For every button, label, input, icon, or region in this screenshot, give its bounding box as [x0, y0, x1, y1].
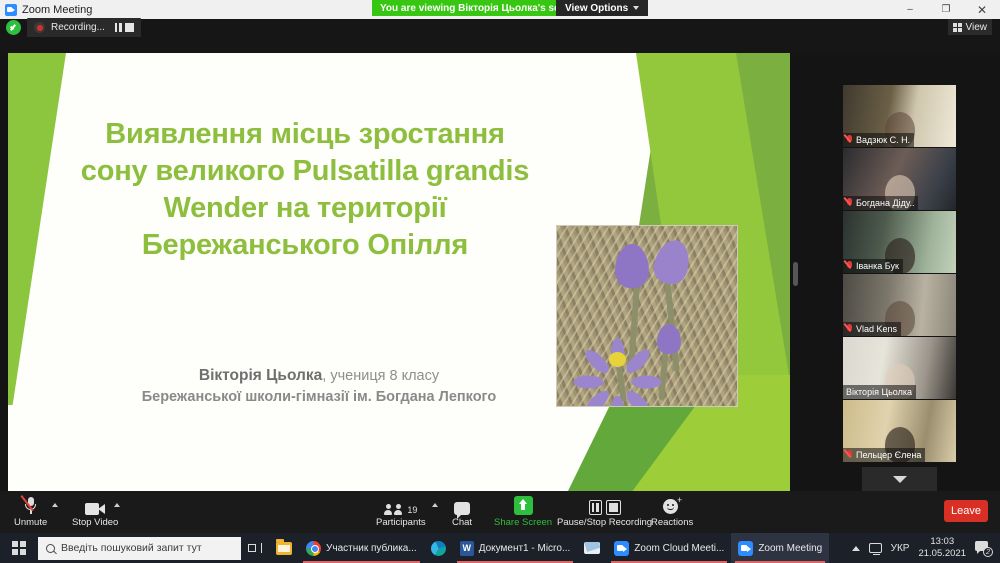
- task-view-icon: [248, 543, 262, 554]
- meeting-toolbar: Unmute Stop Video 19 Participants Chat S…: [0, 491, 1000, 533]
- file-explorer-icon: [276, 542, 292, 555]
- clock-time: 13:03: [918, 536, 966, 548]
- author-role: , учениця 8 класу: [322, 368, 439, 384]
- reactions-button[interactable]: + Reactions: [651, 495, 693, 528]
- zoom-meeting-window: Zoom Meeting – ❐ ✕ You are viewing Вікто…: [0, 0, 1000, 563]
- participant-tile-active-speaker[interactable]: Вікторія Цьолка: [843, 337, 956, 399]
- file-explorer-button[interactable]: [269, 533, 299, 563]
- windows-taskbar: Введіть пошуковий запит тут Участник пуб…: [0, 533, 1000, 563]
- taskbar-item-chrome[interactable]: Участник публика...: [299, 533, 424, 563]
- window-title: Zoom Meeting: [22, 4, 92, 16]
- shield-check-icon[interactable]: [6, 20, 21, 35]
- stop-icon[interactable]: [125, 23, 134, 32]
- view-button-label: View: [966, 22, 988, 33]
- microphone-muted-icon: [846, 198, 853, 208]
- word-icon: W: [460, 541, 474, 556]
- participant-tile[interactable]: Вадзюк С. Н.: [843, 85, 956, 147]
- notification-count: 2: [983, 547, 993, 557]
- share-scrollbar[interactable]: [793, 262, 798, 286]
- camera-icon: [85, 503, 105, 515]
- mail-icon: [584, 542, 600, 554]
- record-dot-icon: [34, 22, 45, 33]
- participant-name: Вадзюк С. Н.: [856, 135, 910, 145]
- participants-caret-icon[interactable]: [432, 503, 438, 507]
- people-icon: 19: [384, 504, 417, 515]
- taskbar-item-zoom-meeting[interactable]: Zoom Meeting: [731, 533, 829, 563]
- stop-video-button[interactable]: Stop Video: [72, 495, 118, 528]
- edge-icon: [431, 541, 446, 556]
- participant-name: Богдана Діду..: [856, 198, 914, 208]
- maximize-button[interactable]: ❐: [928, 0, 964, 19]
- taskbar-item-edge[interactable]: [424, 533, 453, 563]
- participants-button[interactable]: 19 Participants: [376, 495, 426, 528]
- microphone-muted-icon: [24, 496, 37, 515]
- taskbar-item-label: Zoom Meeting: [758, 543, 822, 554]
- view-options-label: View Options: [565, 3, 628, 14]
- taskbar-item-label: Документ1 - Micro...: [479, 543, 571, 554]
- participant-tile[interactable]: Іванка Бук: [843, 211, 956, 273]
- recording-indicator: Recording...: [27, 18, 141, 37]
- chrome-icon: [306, 541, 321, 556]
- pause-stop-recording-button[interactable]: Pause/Stop Recording: [557, 495, 652, 528]
- zoom-icon: [614, 541, 629, 556]
- chevron-up-icon[interactable]: [852, 546, 860, 551]
- participant-name: Іванка Бук: [856, 261, 899, 271]
- author-name: Вікторія Цьолка: [199, 367, 322, 384]
- share-screen-icon: [514, 496, 533, 515]
- participants-label: Participants: [376, 517, 426, 528]
- view-button[interactable]: View: [948, 19, 993, 35]
- slide-title: Виявлення місць зростання сону великого …: [70, 116, 540, 264]
- smiley-plus-icon: +: [663, 497, 681, 515]
- participants-count: 19: [407, 505, 417, 515]
- taskbar-item-mail[interactable]: [577, 533, 607, 563]
- chevron-down-icon: [633, 6, 639, 10]
- filmstrip-scroll-down-button[interactable]: [862, 467, 937, 491]
- microphone-muted-icon: [846, 324, 853, 334]
- chevron-down-icon: [893, 476, 907, 483]
- clock[interactable]: 13:03 21.05.2021: [918, 536, 966, 559]
- author-school: Бережанської школи-гімназії ім. Богдана …: [104, 387, 534, 408]
- reactions-label: Reactions: [651, 517, 693, 528]
- clock-date: 21.05.2021: [918, 548, 966, 560]
- recording-label: Pause/Stop Recording: [557, 517, 652, 528]
- search-placeholder: Введіть пошуковий запит тут: [61, 542, 202, 554]
- taskbar-item-label: Zoom Cloud Meeti...: [634, 543, 724, 554]
- shared-screen-area: Виявлення місць зростання сону великого …: [8, 53, 790, 491]
- recording-controls-icon: [589, 500, 621, 515]
- slide-author: Вікторія Цьолка, учениця 8 класу Бережан…: [104, 365, 534, 408]
- participant-tile[interactable]: Vlad Kens: [843, 274, 956, 336]
- grid-icon: [953, 23, 962, 32]
- notification-icon[interactable]: 2: [975, 541, 992, 556]
- stop-video-label: Stop Video: [72, 517, 118, 528]
- taskbar-item-zoom-cloud[interactable]: Zoom Cloud Meeti...: [607, 533, 731, 563]
- microphone-muted-icon: [846, 135, 853, 145]
- windows-logo-icon: [12, 541, 26, 555]
- participant-name: Вікторія Цьолка: [846, 387, 912, 397]
- microphone-muted-icon: [846, 450, 853, 460]
- language-indicator[interactable]: УКР: [891, 543, 910, 554]
- unmute-label: Unmute: [14, 517, 47, 528]
- pulsatilla-grandis-photo: [556, 225, 738, 407]
- monitor-icon[interactable]: [869, 543, 882, 553]
- search-icon: [46, 544, 55, 553]
- participant-tile[interactable]: Богдана Діду..: [843, 148, 956, 210]
- microphone-muted-icon: [846, 261, 853, 271]
- taskbar-item-word[interactable]: W Документ1 - Micro...: [453, 533, 578, 563]
- chat-button[interactable]: Chat: [452, 495, 472, 528]
- participant-name: Vlad Kens: [856, 324, 897, 334]
- share-screen-label: Share Screen: [494, 517, 552, 528]
- meeting-top-bar: [0, 19, 1000, 53]
- chat-bubble-icon: [454, 502, 470, 515]
- taskbar-item-label: Участник публика...: [326, 543, 417, 554]
- recording-label: Recording...: [51, 22, 105, 33]
- close-button[interactable]: ✕: [964, 0, 1000, 19]
- window-controls: – ❐ ✕: [892, 0, 1000, 19]
- participant-filmstrip: Вадзюк С. Н. Богдана Діду.. Іванка Бук V…: [843, 85, 956, 491]
- start-button[interactable]: [0, 533, 38, 563]
- minimize-button[interactable]: –: [892, 0, 928, 19]
- share-screen-button[interactable]: Share Screen: [494, 495, 552, 528]
- zoom-icon: [738, 541, 753, 556]
- chat-label: Chat: [452, 517, 472, 528]
- pause-icon[interactable]: [115, 23, 122, 32]
- taskbar-search-input[interactable]: Введіть пошуковий запит тут: [38, 537, 241, 560]
- audio-options-caret-icon[interactable]: [52, 503, 58, 507]
- participant-name: Пельцер Єлена: [856, 450, 921, 460]
- presentation-slide: Виявлення місць зростання сону великого …: [8, 53, 790, 491]
- unmute-button[interactable]: Unmute: [14, 495, 47, 528]
- task-view-button[interactable]: [241, 533, 269, 563]
- leave-button[interactable]: Leave: [944, 500, 988, 522]
- slide-decoration-left: [8, 53, 66, 405]
- zoom-icon: [5, 4, 17, 16]
- video-options-caret-icon[interactable]: [114, 503, 120, 507]
- system-tray: УКР 13:03 21.05.2021 2: [852, 536, 1000, 559]
- view-options-dropdown[interactable]: View Options: [556, 0, 648, 16]
- participant-tile[interactable]: Пельцер Єлена: [843, 400, 956, 462]
